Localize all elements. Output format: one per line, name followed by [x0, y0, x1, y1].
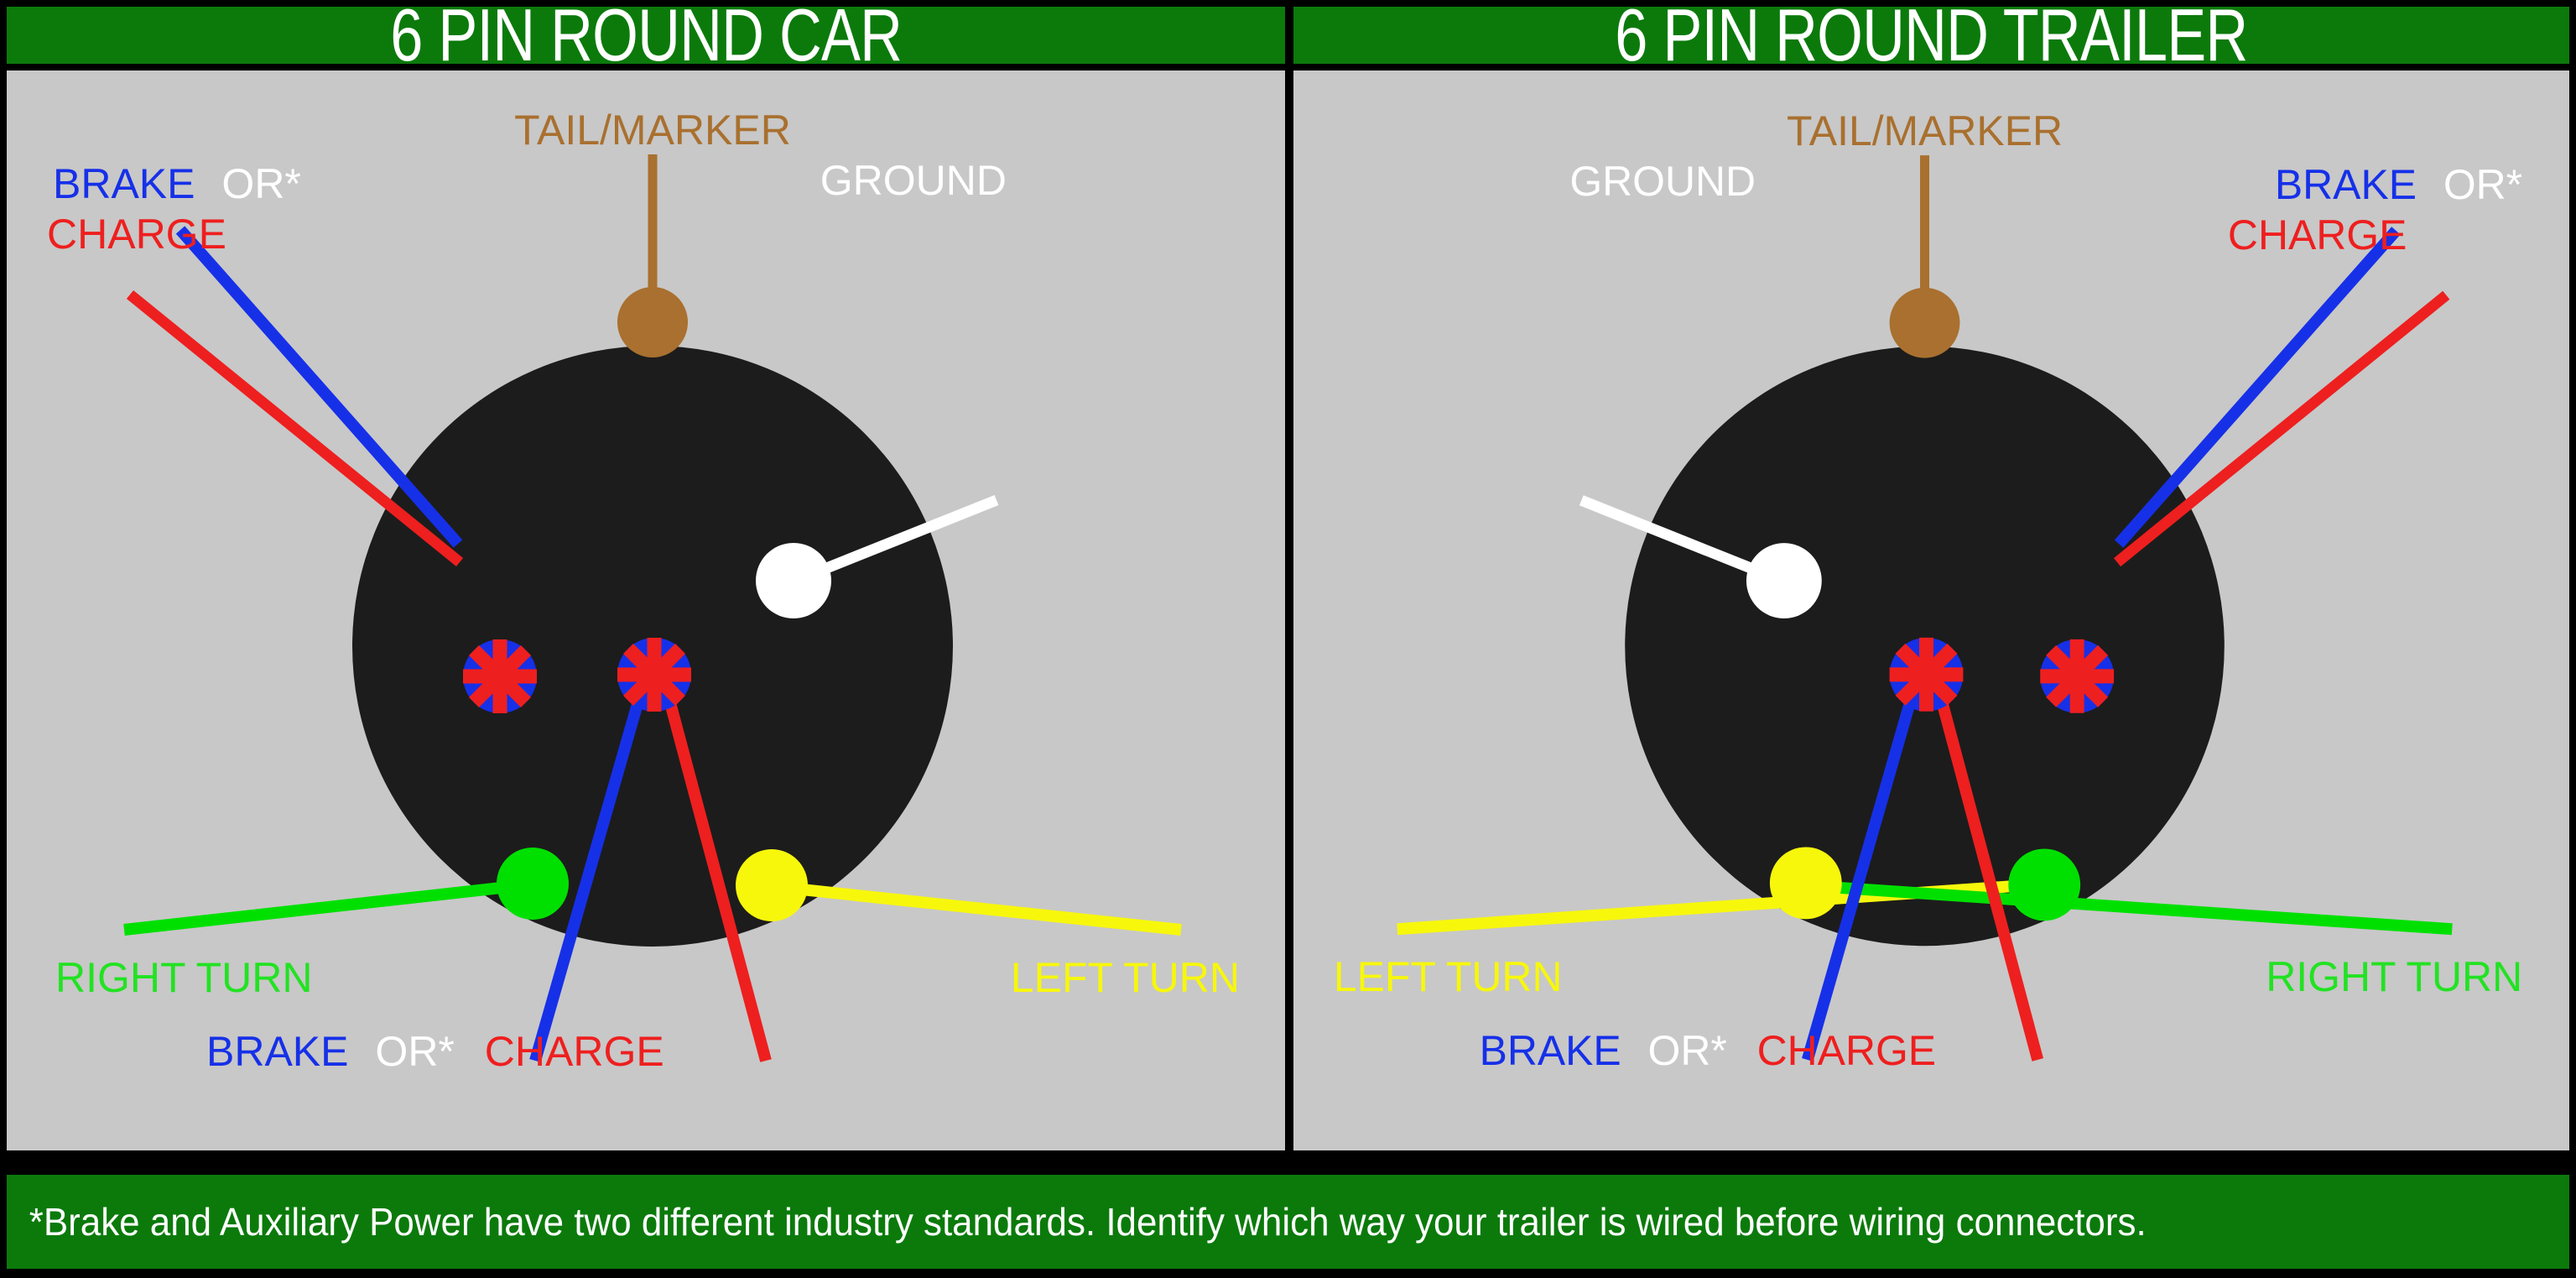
- ground-pin[interactable]: [756, 543, 831, 618]
- charge-wire-outer: [2117, 295, 2446, 562]
- brake-wire-outer: [2119, 231, 2396, 544]
- panel-title-trailer: 6 PIN ROUND TRAILER: [1615, 0, 2247, 78]
- brake-charge-outer-pin[interactable]: [2040, 639, 2114, 713]
- label-or-outer: OR*: [221, 160, 300, 207]
- charge-wire-outer: [130, 295, 460, 562]
- label-or-outer: OR*: [2443, 161, 2522, 208]
- right-turn-pin[interactable]: [2008, 848, 2080, 921]
- right-turn-pin[interactable]: [497, 848, 569, 920]
- label-brake-or-outer: BRAKE OR*: [53, 160, 301, 207]
- left-turn-pin[interactable]: [1770, 847, 1842, 919]
- label-or-center: OR*: [375, 1028, 454, 1075]
- label-brake-or-charge-center: BRAKE OR* CHARGE: [206, 1028, 664, 1075]
- label-ground: GROUND: [1569, 158, 1756, 205]
- panel-body-trailer: TAIL/MARKER GROUND LEFT TURN RIGHT TURN …: [1293, 70, 2569, 1150]
- panel-title-car: 6 PIN ROUND CAR: [390, 0, 902, 78]
- label-brake-or-outer: BRAKE OR*: [2275, 161, 2522, 208]
- panel-header-car: 6 PIN ROUND CAR: [7, 7, 1285, 64]
- panel-header-trailer: 6 PIN ROUND TRAILER: [1293, 7, 2569, 64]
- label-right-turn: RIGHT TURN: [55, 954, 313, 1001]
- footer-note-bar: *Brake and Auxiliary Power have two diff…: [7, 1175, 2569, 1269]
- label-brake-outer: BRAKE: [2275, 161, 2417, 208]
- left-turn-pin[interactable]: [736, 849, 808, 921]
- ground-pin[interactable]: [1746, 543, 1822, 618]
- connector-diagram-trailer: TAIL/MARKER GROUND LEFT TURN RIGHT TURN …: [1293, 70, 2569, 1150]
- label-brake-center: BRAKE: [206, 1028, 349, 1075]
- connector-diagram-car: TAIL/MARKER GROUND RIGHT TURN LEFT TURN …: [7, 70, 1285, 1150]
- label-charge-outer: CHARGE: [2228, 211, 2407, 258]
- label-tail-marker: TAIL/MARKER: [1787, 107, 2063, 154]
- right-turn-wire: [124, 884, 531, 930]
- label-brake-outer: BRAKE: [53, 160, 195, 207]
- label-ground: GROUND: [820, 157, 1007, 204]
- footer-note-text: *Brake and Auxiliary Power have two diff…: [7, 1199, 2147, 1244]
- label-charge-outer: CHARGE: [47, 211, 226, 258]
- label-brake-or-charge-center: BRAKE OR* CHARGE: [1480, 1027, 1937, 1074]
- label-brake-center: BRAKE: [1480, 1027, 1621, 1074]
- label-charge-center: CHARGE: [485, 1028, 664, 1075]
- label-charge-center: CHARGE: [1757, 1027, 1936, 1074]
- brake-charge-center-pin[interactable]: [617, 638, 691, 712]
- tail-marker-pin[interactable]: [617, 287, 688, 357]
- label-left-turn: LEFT TURN: [1334, 953, 1563, 1000]
- label-tail-marker: TAIL/MARKER: [514, 107, 791, 154]
- diagram-root: 6 PIN ROUND CAR: [0, 0, 2576, 1278]
- label-right-turn: RIGHT TURN: [2266, 953, 2522, 1000]
- left-turn-wire: [770, 886, 1181, 930]
- brake-charge-outer-pin[interactable]: [463, 639, 537, 713]
- label-or-center: OR*: [1648, 1027, 1727, 1074]
- brake-wire-outer: [180, 230, 458, 544]
- brake-charge-center-pin[interactable]: [1890, 638, 1964, 712]
- label-left-turn: LEFT TURN: [1011, 954, 1240, 1001]
- tail-marker-pin[interactable]: [1890, 288, 1960, 358]
- panel-body-car: TAIL/MARKER GROUND RIGHT TURN LEFT TURN …: [7, 70, 1285, 1150]
